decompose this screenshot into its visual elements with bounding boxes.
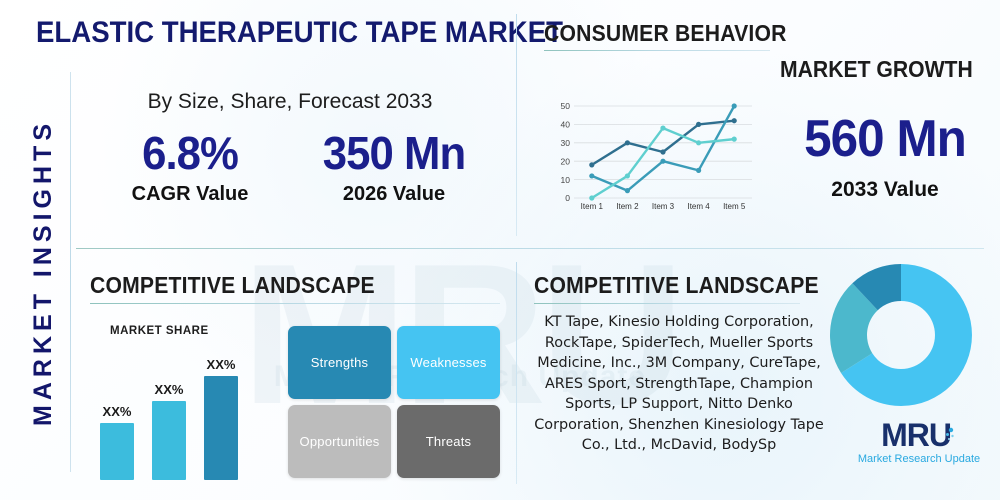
donut-segment [901, 264, 972, 406]
market-growth-value: 560 Mn [785, 110, 985, 168]
consumer-behavior-heading: CONSUMER BEHAVIOR [544, 20, 787, 47]
swot-box-strengths[interactable]: Strengths [288, 326, 391, 399]
svg-text:50: 50 [561, 101, 571, 111]
overview-subtitle: By Size, Share, Forecast 2033 [90, 90, 490, 114]
vertical-divider-top [516, 14, 517, 236]
svg-text:30: 30 [561, 138, 571, 148]
kpi-cagr-value: 6.8% [93, 126, 287, 180]
market-share-caption: MARKET SHARE [110, 325, 209, 337]
svg-text:Item 4: Item 4 [687, 202, 710, 211]
vertical-divider-bottom [516, 262, 517, 484]
company-list: KT Tape, Kinesio Holding Corporation, Ro… [534, 312, 824, 456]
consumer-behavior-line-chart: 01020304050Item 1Item 2Item 3Item 4Item … [548, 100, 758, 220]
mru-logo-text: MRU [881, 417, 951, 453]
market-growth-title: MARKET GROWTH [780, 56, 973, 83]
svg-text:20: 20 [561, 156, 571, 166]
consumer-behavior-rule [544, 50, 770, 51]
svg-text:Item 2: Item 2 [616, 202, 639, 211]
competitive-right-heading: COMPETITIVE LANDSCAPE [534, 272, 819, 299]
swot-box-threats[interactable]: Threats [397, 405, 500, 478]
droplet-icon [944, 426, 957, 448]
page-title: ELASTIC THERAPEUTIC TAPE MARKET [36, 16, 468, 50]
competitive-right-rule [534, 303, 800, 304]
competitive-left-heading: COMPETITIVE LANDSCAPE [90, 272, 375, 299]
kpi-cagr: 6.8% CAGR Value [88, 126, 292, 206]
svg-text:Item 3: Item 3 [652, 202, 675, 211]
market-share-bar-chart: MARKET SHARE XX%XX%XX% [90, 325, 290, 480]
swot-grid: StrengthsWeaknessesOpportunitiesThreats [288, 326, 500, 478]
bar [100, 423, 134, 480]
bar-column: XX% [204, 350, 238, 480]
kpi-2026-value: 350 Mn [297, 126, 491, 180]
bar-column: XX% [152, 350, 186, 480]
svg-text:Item 5: Item 5 [723, 202, 746, 211]
mru-logo-tagline: Market Research Update [852, 453, 986, 465]
mru-logo: MRU Market Research Update [852, 418, 986, 482]
kpi-2026: 350 Mn 2026 Value [292, 126, 496, 206]
bar [204, 376, 238, 480]
svg-text:Item 1: Item 1 [581, 202, 604, 211]
bar-value-label: XX% [207, 357, 236, 372]
market-growth-label: 2033 Value [780, 178, 990, 202]
bar-column: XX% [100, 350, 134, 480]
sidebar-label: MARKET INSIGHTS [29, 119, 58, 426]
competitive-left-rule [90, 303, 500, 304]
svg-text:40: 40 [561, 120, 571, 130]
swot-box-opportunities[interactable]: Opportunities [288, 405, 391, 478]
bar-group: XX%XX%XX% [100, 350, 290, 480]
svg-text:0: 0 [565, 193, 570, 203]
kpi-cagr-label: CAGR Value [88, 183, 292, 206]
sidebar-label-wrap: MARKET INSIGHTS [16, 72, 70, 472]
horizontal-divider [76, 248, 984, 249]
bar-value-label: XX% [103, 404, 132, 419]
bar-value-label: XX% [155, 382, 184, 397]
sidebar-divider [70, 72, 71, 472]
donut-chart-svg [828, 262, 974, 408]
svg-text:10: 10 [561, 175, 571, 185]
infographic-page: MRU Market Research Update MARKET INSIGH… [0, 0, 1000, 500]
bar [152, 401, 186, 480]
kpi-row: 6.8% CAGR Value 350 Mn 2026 Value [88, 126, 496, 206]
swot-box-weaknesses[interactable]: Weaknesses [397, 326, 500, 399]
kpi-2026-label: 2026 Value [292, 183, 496, 206]
mru-logo-mark: MRU [852, 418, 986, 452]
market-share-donut-chart [828, 262, 974, 408]
line-chart-svg: 01020304050Item 1Item 2Item 3Item 4Item … [548, 100, 758, 220]
